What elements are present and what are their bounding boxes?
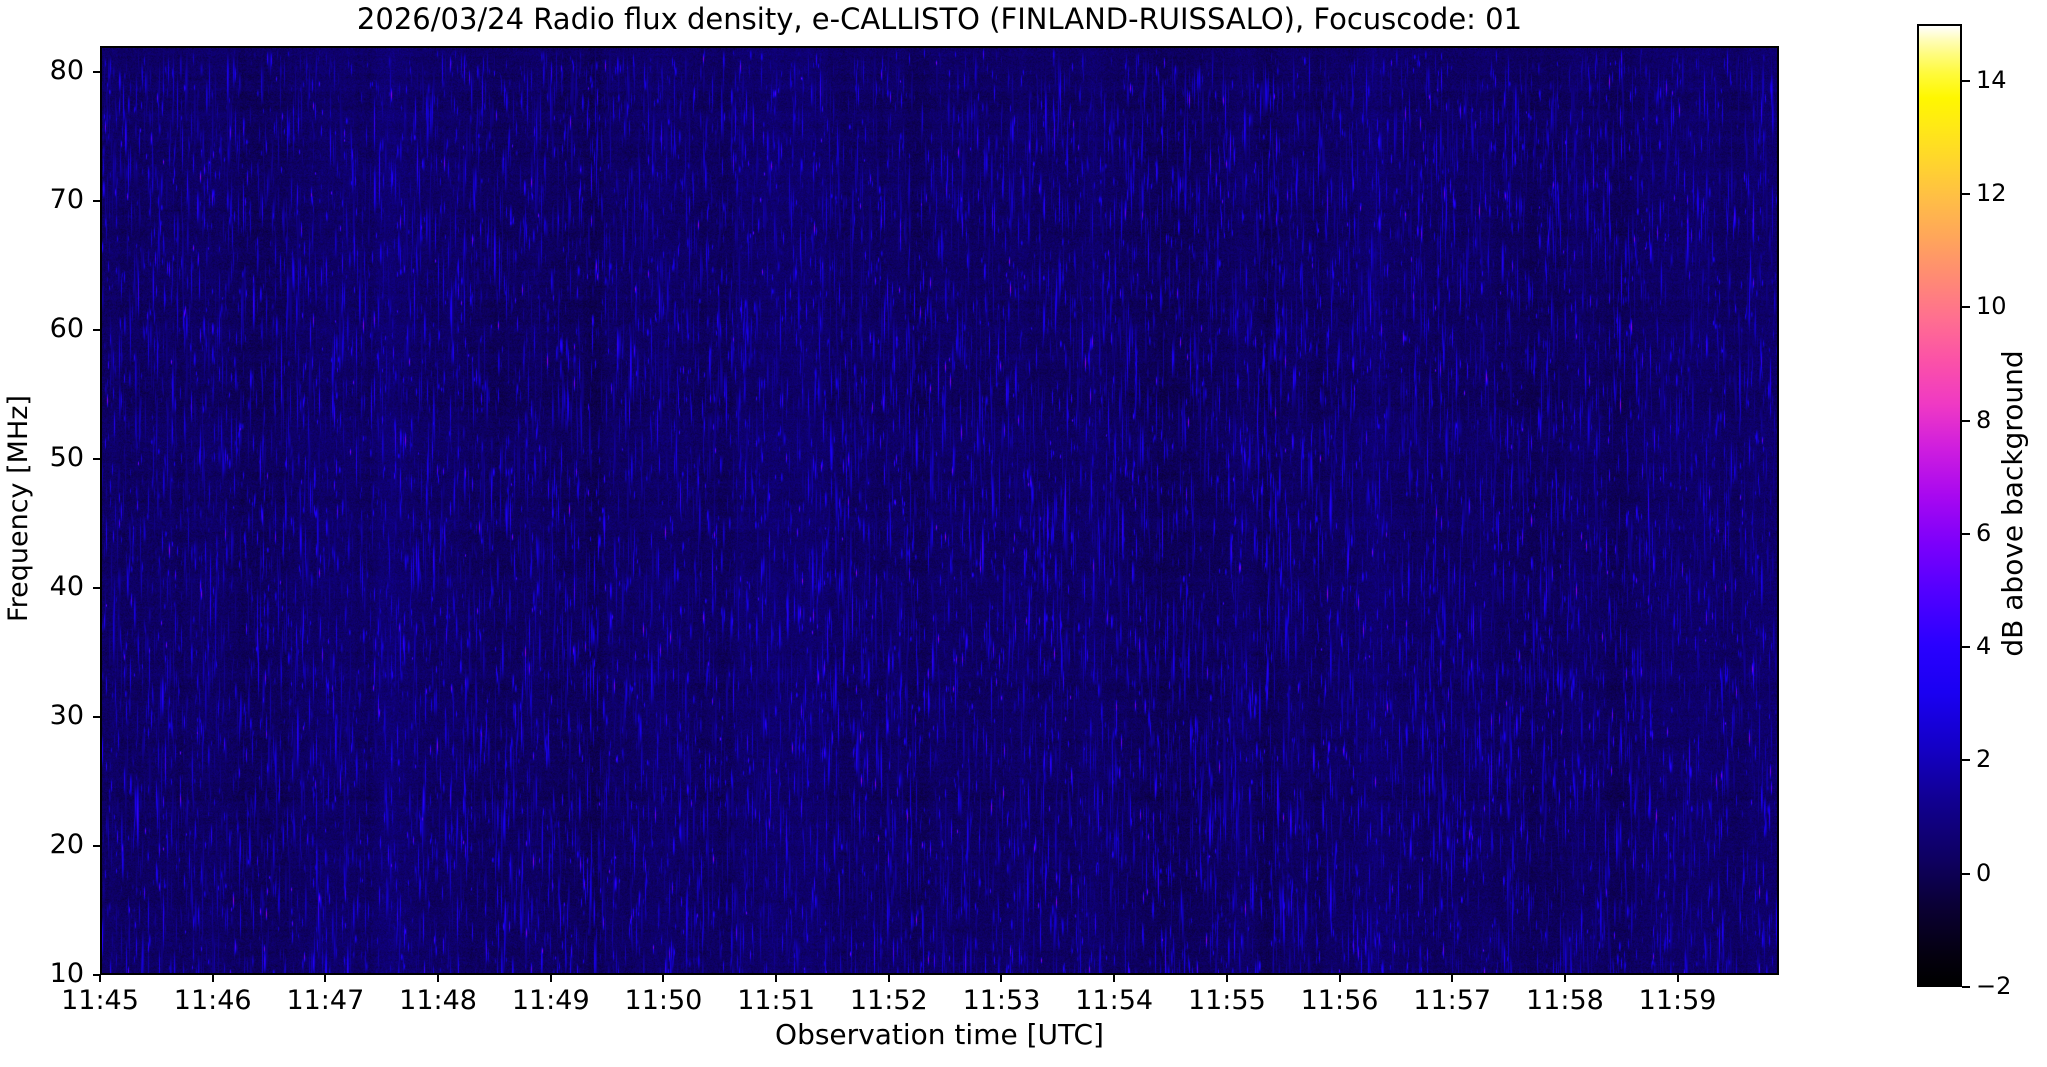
page-title: 2026/03/24 Radio flux density, e-CALLIST… [100,2,1779,36]
colorbar-tick-mark [1962,986,1970,988]
x-tick-mark [1226,975,1228,982]
spectrogram-heatmap [102,48,1777,973]
x-tick-mark [1113,975,1115,982]
x-tick-mark [1564,975,1566,982]
x-tick-mark [324,975,326,982]
colorbar-tick-label: 4 [1976,632,1991,660]
y-tick-mark [93,71,100,73]
colorbar-tick-mark [1962,193,1970,195]
colorbar-label: dB above background [1996,22,2029,985]
colorbar-tick-mark [1962,759,1970,761]
x-tick-mark [888,975,890,982]
colorbar-tick-mark [1962,80,1970,82]
colorbar-tick-label: 8 [1976,406,1991,434]
x-tick-mark [550,975,552,982]
x-tick-mark [212,975,214,982]
colorbar-tick-mark [1962,420,1970,422]
y-tick-mark [93,458,100,460]
colorbar-tick-label: 6 [1976,519,1991,547]
x-tick-mark [1677,975,1679,982]
colorbar-tick-mark [1962,646,1970,648]
x-tick-mark [1000,975,1002,982]
x-tick-mark [99,975,101,982]
colorbar-tick-mark [1962,533,1970,535]
x-tick-mark [1451,975,1453,982]
y-tick-mark [93,587,100,589]
x-tick-mark [775,975,777,982]
y-tick-mark [93,845,100,847]
colorbar-tick-mark [1962,306,1970,308]
y-tick-mark [93,200,100,202]
x-tick-mark [437,975,439,982]
x-axis-label: Observation time [UTC] [100,1018,1779,1051]
spectrogram-axes[interactable] [100,46,1779,975]
colorbar [1917,24,1962,987]
colorbar-tick-mark [1962,873,1970,875]
y-tick-mark [93,329,100,331]
x-tick-mark [662,975,664,982]
y-tick-mark [93,716,100,718]
colorbar-tick-label: 0 [1976,859,1991,887]
y-axis-label: Frequency [MHz] [3,44,34,973]
colorbar-tick-label: 2 [1976,745,1991,773]
x-tick-label: 11:59 [1598,985,1758,1016]
x-tick-mark [1339,975,1341,982]
